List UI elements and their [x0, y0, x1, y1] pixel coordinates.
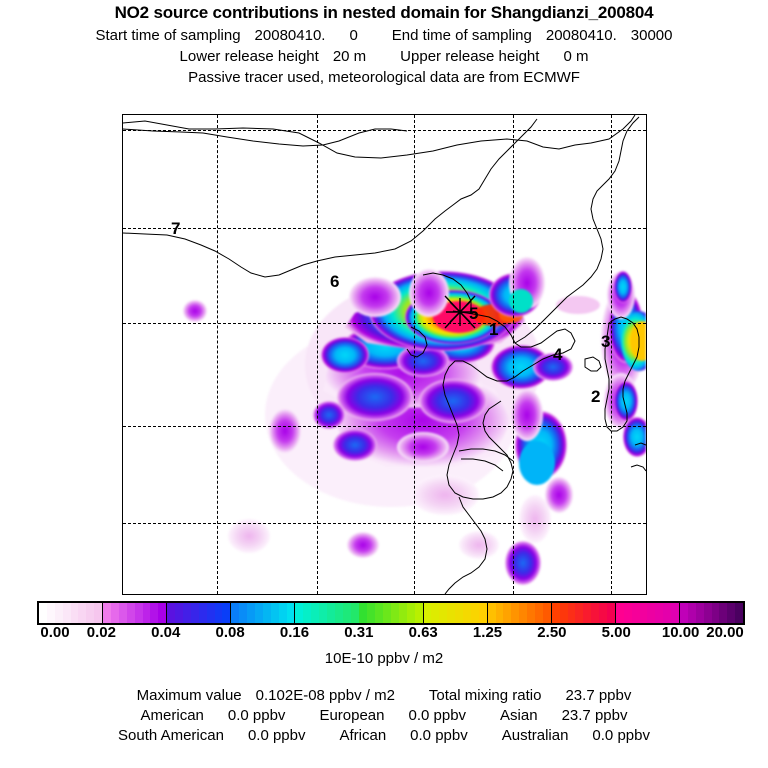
colorbar-tick-0: 0.00	[40, 624, 69, 641]
colorbar-step	[327, 603, 335, 623]
release-height-line: Lower release height20 mUpper release he…	[0, 48, 768, 65]
colorbar-step	[255, 603, 263, 623]
colorbar-step	[407, 603, 415, 623]
colorbar-step	[599, 603, 607, 623]
colorbar-step	[663, 603, 671, 623]
colorbar-step	[696, 603, 704, 623]
end-time-label: End time of sampling	[392, 27, 532, 44]
colorbar-step	[47, 603, 55, 623]
colorbar-step	[279, 603, 287, 623]
region-label-layer: 7651432	[123, 115, 646, 594]
colorbar-step	[127, 603, 135, 623]
colorbar-step	[415, 603, 423, 623]
colorbar-step	[647, 603, 655, 623]
colorbar-band-5	[359, 603, 423, 623]
colorbar-step	[239, 603, 247, 623]
colorbar-step	[503, 603, 511, 623]
colorbar[interactable]	[37, 601, 745, 625]
colorbar-step	[568, 603, 576, 623]
colorbar-step	[135, 603, 143, 623]
region-value-african: 0.0 ppbv	[410, 727, 468, 744]
colorbar-step	[158, 603, 166, 623]
colorbar-step	[519, 603, 527, 623]
lower-release-value: 20 m	[333, 48, 366, 65]
colorbar-step	[303, 603, 311, 623]
start-time-label: Start time of sampling	[95, 27, 240, 44]
map-region-label-6: 6	[330, 273, 339, 290]
region-name-australian: Australian	[502, 727, 569, 744]
colorbar-step	[471, 603, 479, 623]
colorbar-step	[560, 603, 568, 623]
colorbar-band-1	[103, 603, 167, 623]
region-row-1: American0.0 ppbvEuropean0.0 ppbvAsian23.…	[0, 707, 768, 724]
colorbar-step	[616, 603, 624, 623]
upper-release-value: 0 m	[563, 48, 588, 65]
colorbar-step	[583, 603, 591, 623]
colorbar-step	[671, 603, 679, 623]
colorbar-step	[222, 603, 230, 623]
colorbar-step	[359, 603, 367, 623]
colorbar-step	[183, 603, 191, 623]
colorbar-step	[624, 603, 632, 623]
colorbar-step	[319, 603, 327, 623]
region-name-american: American	[141, 707, 204, 724]
colorbar-step	[287, 603, 295, 623]
colorbar-step	[640, 603, 648, 623]
colorbar-step	[735, 603, 743, 623]
colorbar-step	[295, 603, 303, 623]
colorbar-band-10	[680, 603, 743, 623]
colorbar-band-3	[231, 603, 295, 623]
colorbar-step	[111, 603, 119, 623]
map-region-label-7: 7	[171, 220, 180, 237]
colorbar-step	[632, 603, 640, 623]
colorbar-step	[424, 603, 432, 623]
map-region-label-5: 5	[469, 305, 478, 322]
colorbar-step	[399, 603, 407, 623]
region-value-european: 0.0 ppbv	[409, 707, 467, 724]
colorbar-step	[167, 603, 175, 623]
colorbar-step	[455, 603, 463, 623]
colorbar-step	[367, 603, 375, 623]
colorbar-step	[375, 603, 383, 623]
colorbar-step	[431, 603, 439, 623]
end-time-value: 30000	[631, 27, 673, 44]
colorbar-step	[655, 603, 663, 623]
tracer-note: Passive tracer used, meteorological data…	[0, 69, 768, 86]
colorbar-tick-11: 20.00	[706, 624, 744, 641]
colorbar-step	[447, 603, 455, 623]
colorbar-step	[55, 603, 63, 623]
total-ratio-value: 23.7 ppbv	[565, 687, 631, 704]
colorbar-step	[439, 603, 447, 623]
map-region-label-1: 1	[489, 321, 498, 338]
colorbar-tick-2: 0.04	[151, 624, 180, 641]
colorbar-step	[527, 603, 535, 623]
map-region-label-3: 3	[601, 333, 610, 350]
colorbar-step	[199, 603, 207, 623]
colorbar-step	[78, 603, 86, 623]
region-row-2: South American0.0 ppbvAfrican0.0 ppbvAus…	[0, 727, 768, 744]
colorbar-tick-4: 0.16	[280, 624, 309, 641]
colorbar-step	[607, 603, 615, 623]
colorbar-step	[535, 603, 543, 623]
colorbar-tick-10: 10.00	[662, 624, 700, 641]
colorbar-step	[271, 603, 279, 623]
colorbar-step	[688, 603, 696, 623]
end-date-value: 20080410.	[546, 27, 617, 44]
total-ratio-label: Total mixing ratio	[429, 687, 542, 704]
colorbar-tick-7: 1.25	[473, 624, 502, 641]
region-name-asian: Asian	[500, 707, 538, 724]
colorbar-step	[263, 603, 271, 623]
statistics-footer: Maximum value0.102E-08 ppbv / m2Total mi…	[0, 684, 768, 744]
colorbar-step	[591, 603, 599, 623]
colorbar-tick-3: 0.08	[215, 624, 244, 641]
colorbar-band-7	[488, 603, 552, 623]
colorbar-step	[143, 603, 151, 623]
start-date-value: 20080410.	[255, 27, 326, 44]
colorbar-step	[383, 603, 391, 623]
colorbar-step	[727, 603, 735, 623]
colorbar-step	[247, 603, 255, 623]
region-value-australian: 0.0 ppbv	[592, 727, 650, 744]
page-title: NO2 source contributions in nested domai…	[0, 3, 768, 23]
colorbar-step	[343, 603, 351, 623]
colorbar-step	[103, 603, 111, 623]
colorbar-step	[311, 603, 319, 623]
region-name-african: African	[339, 727, 386, 744]
colorbar-band-9	[616, 603, 680, 623]
region-name-european: European	[319, 707, 384, 724]
start-time-value: 0	[349, 27, 357, 44]
colorbar-step	[575, 603, 583, 623]
colorbar-step	[94, 603, 102, 623]
colorbar-step	[63, 603, 71, 623]
colorbar-tick-8: 2.50	[537, 624, 566, 641]
colorbar-step	[119, 603, 127, 623]
colorbar-tick-5: 0.31	[344, 624, 373, 641]
colorbar-tick-9: 5.00	[602, 624, 631, 641]
colorbar-step	[39, 603, 47, 623]
max-value-value: 0.102E-08 ppbv / m2	[256, 687, 395, 704]
max-value-line: Maximum value0.102E-08 ppbv / m2Total mi…	[0, 687, 768, 704]
colorbar-tick-labels: 0.000.020.040.080.160.310.631.252.505.00…	[0, 624, 768, 644]
region-value-asian: 23.7 ppbv	[562, 707, 628, 724]
region-name-south-american: South American	[118, 727, 224, 744]
colorbar-band-8	[552, 603, 616, 623]
colorbar-step	[215, 603, 223, 623]
colorbar-step	[71, 603, 79, 623]
colorbar-step	[488, 603, 496, 623]
colorbar-step	[719, 603, 727, 623]
map-region-label-4: 4	[553, 346, 562, 363]
sampling-time-line: Start time of sampling20080410.0End time…	[0, 27, 768, 44]
lower-release-label: Lower release height	[180, 48, 319, 65]
colorbar-step	[207, 603, 215, 623]
colorbar-step	[496, 603, 504, 623]
plot-header: NO2 source contributions in nested domai…	[0, 0, 768, 86]
colorbar-step	[191, 603, 199, 623]
colorbar-band-0	[39, 603, 103, 623]
colorbar-step	[680, 603, 688, 623]
colorbar-band-6	[424, 603, 488, 623]
colorbar-step	[231, 603, 239, 623]
map-region-label-2: 2	[591, 388, 600, 405]
colorbar-step	[335, 603, 343, 623]
region-value-american: 0.0 ppbv	[228, 707, 286, 724]
colorbar-step	[150, 603, 158, 623]
colorbar-step	[712, 603, 720, 623]
colorbar-step	[511, 603, 519, 623]
map-panel[interactable]: 7651432	[122, 114, 647, 595]
colorbar-step	[391, 603, 399, 623]
colorbar-step	[175, 603, 183, 623]
colorbar-step	[86, 603, 94, 623]
colorbar-band-2	[167, 603, 231, 623]
colorbar-step	[479, 603, 487, 623]
colorbar-band-4	[295, 603, 359, 623]
max-value-label: Maximum value	[137, 687, 242, 704]
colorbar-unit-label: 10E-10 ppbv / m2	[0, 650, 768, 667]
colorbar-step	[351, 603, 359, 623]
colorbar-tick-6: 0.63	[409, 624, 438, 641]
colorbar-step	[704, 603, 712, 623]
colorbar-step	[543, 603, 551, 623]
colorbar-step	[463, 603, 471, 623]
upper-release-label: Upper release height	[400, 48, 539, 65]
region-value-south-american: 0.0 ppbv	[248, 727, 306, 744]
colorbar-tick-1: 0.02	[87, 624, 116, 641]
colorbar-step	[552, 603, 560, 623]
